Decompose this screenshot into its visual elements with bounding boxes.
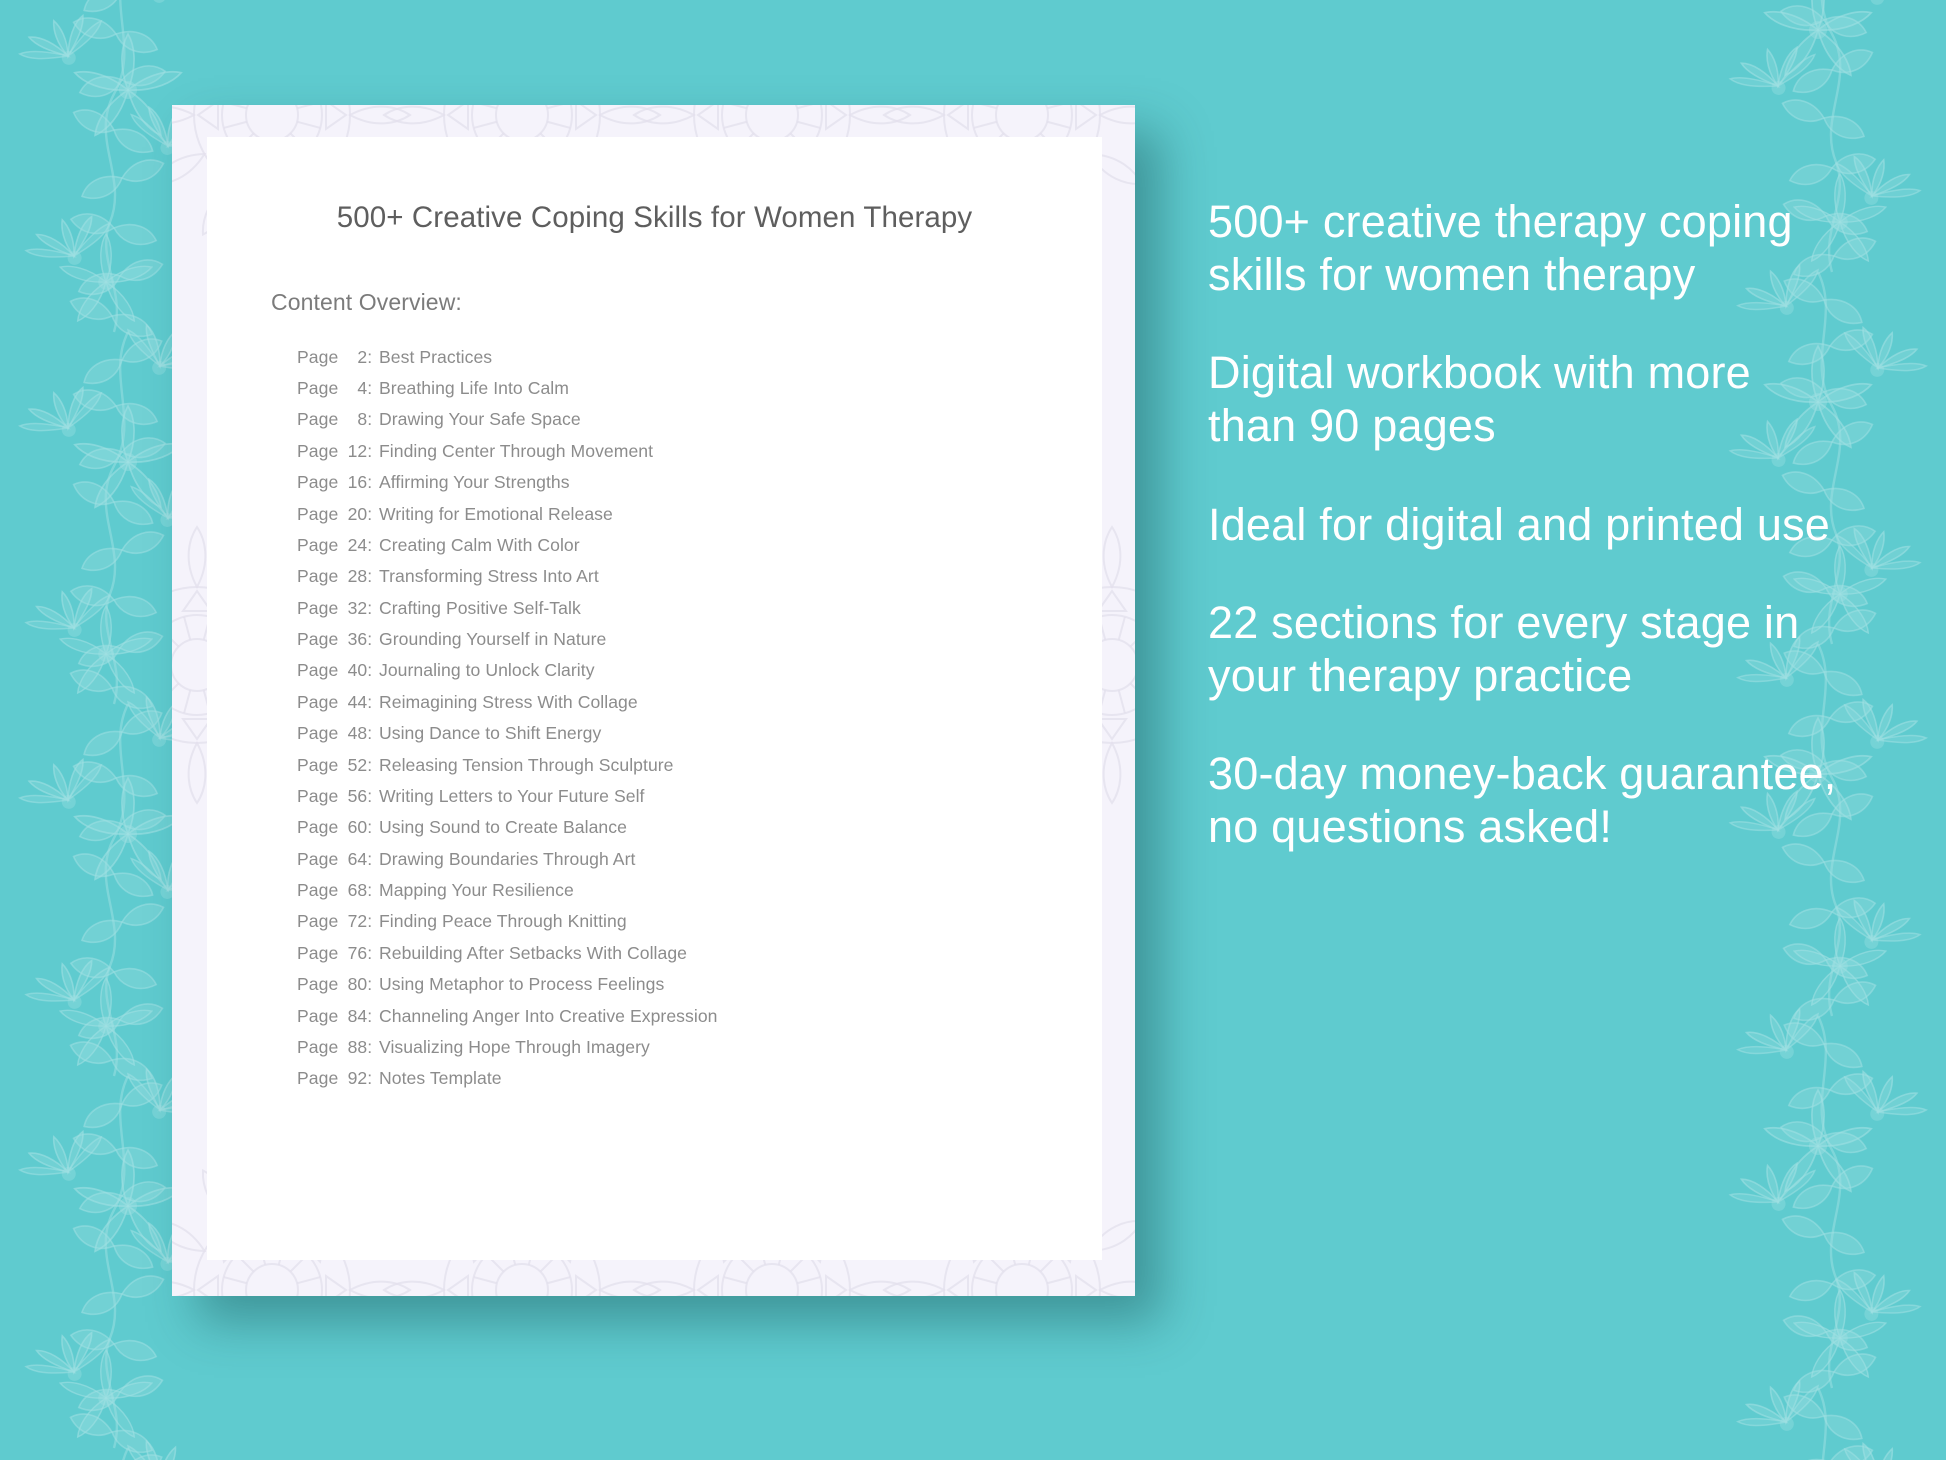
toc-entry-page-number: 60 <box>343 819 367 837</box>
content-overview-label: Content Overview: <box>207 237 1102 316</box>
toc-entry-page: Page 88: <box>297 1039 369 1057</box>
toc-entry-page-number: 4 <box>343 380 367 398</box>
toc-entry-title: Using Metaphor to Process Feelings <box>369 976 1102 994</box>
toc-entry-page-number: 20 <box>343 506 367 524</box>
toc-entry-page-word: Page <box>297 943 338 963</box>
toc-entry-page: Page 36: <box>297 631 369 649</box>
toc-entry-page: Page 8: <box>297 411 369 429</box>
toc-entry: Page 44:Reimagining Stress With Collage <box>297 687 1102 718</box>
toc-entry-page-number: 52 <box>343 757 367 775</box>
toc-entry-page-word: Page <box>297 629 338 649</box>
toc-entry-title: Mapping Your Resilience <box>369 882 1102 900</box>
toc-entry-title: Writing Letters to Your Future Self <box>369 788 1102 806</box>
toc-entry: Page 68:Mapping Your Resilience <box>297 875 1102 906</box>
toc-entry: Page 56:Writing Letters to Your Future S… <box>297 781 1102 812</box>
toc-entry-page-number: 84 <box>343 1008 367 1026</box>
toc-entry-title: Visualizing Hope Through Imagery <box>369 1039 1102 1057</box>
toc-entry: Page 64:Drawing Boundaries Through Art <box>297 844 1102 875</box>
toc-entry-page-word: Page <box>297 598 338 618</box>
toc-entry-page: Page 24: <box>297 537 369 555</box>
toc-entry-page-number: 12 <box>343 443 367 461</box>
marketing-bullet: Digital workbook with more than 90 pages <box>1208 347 1848 452</box>
toc-entry-page-word: Page <box>297 755 338 775</box>
toc-entry-page: Page 68: <box>297 882 369 900</box>
toc-entry-title: Writing for Emotional Release <box>369 506 1102 524</box>
toc-entry-page-number: 40 <box>343 662 367 680</box>
toc-entry: Page 84:Channeling Anger Into Creative E… <box>297 1001 1102 1032</box>
toc-entry-title: Rebuilding After Setbacks With Collage <box>369 945 1102 963</box>
toc-entry: Page 76:Rebuilding After Setbacks With C… <box>297 938 1102 969</box>
toc-entry-page: Page 16: <box>297 474 369 492</box>
toc-entry-page-number: 48 <box>343 725 367 743</box>
toc-entry-page-word: Page <box>297 1068 338 1088</box>
toc-entry-title: Best Practices <box>369 349 1102 367</box>
page-title: 500+ Creative Coping Skills for Women Th… <box>207 137 1102 237</box>
toc-entry: Page 60:Using Sound to Create Balance <box>297 812 1102 843</box>
toc-entry-page-word: Page <box>297 504 338 524</box>
toc-entry-title: Releasing Tension Through Sculpture <box>369 757 1102 775</box>
workbook-page-sheet: 500+ Creative Coping Skills for Women Th… <box>207 137 1102 1260</box>
toc-entry-page: Page 80: <box>297 976 369 994</box>
toc-entry-page-word: Page <box>297 472 338 492</box>
toc-entry-page-number: 44 <box>343 694 367 712</box>
toc-entry: Page 88:Visualizing Hope Through Imagery <box>297 1032 1102 1063</box>
toc-entry-page-number: 68 <box>343 882 367 900</box>
toc-entry: Page 40:Journaling to Unlock Clarity <box>297 656 1102 687</box>
toc-entry-title: Drawing Boundaries Through Art <box>369 851 1102 869</box>
toc-entry-title: Affirming Your Strengths <box>369 474 1102 492</box>
toc-entry: Page 12:Finding Center Through Movement <box>297 436 1102 467</box>
toc-entry: Page 28:Transforming Stress Into Art <box>297 561 1102 592</box>
toc-entry: Page 92:Notes Template <box>297 1063 1102 1094</box>
toc-entry-page-number: 28 <box>343 568 367 586</box>
toc-entry: Page 20:Writing for Emotional Release <box>297 499 1102 530</box>
marketing-bullet: 500+ creative therapy coping skills for … <box>1208 196 1848 301</box>
toc-entry-page-word: Page <box>297 786 338 806</box>
toc-entry-page-word: Page <box>297 409 338 429</box>
toc-entry: Page 80:Using Metaphor to Process Feelin… <box>297 969 1102 1000</box>
toc-entry-title: Crafting Positive Self-Talk <box>369 600 1102 618</box>
toc-entry: Page 2:Best Practices <box>297 342 1102 373</box>
toc-entry-page-word: Page <box>297 1006 338 1026</box>
toc-entry-page-number: 92 <box>343 1070 367 1088</box>
toc-entry-title: Notes Template <box>369 1070 1102 1088</box>
toc-entry-page-number: 36 <box>343 631 367 649</box>
toc-entry-title: Finding Center Through Movement <box>369 443 1102 461</box>
toc-entry-page: Page 32: <box>297 600 369 618</box>
toc-entry-title: Finding Peace Through Knitting <box>369 913 1102 931</box>
toc-entry-page-number: 24 <box>343 537 367 555</box>
toc-entry-page: Page 64: <box>297 851 369 869</box>
toc-entry-title: Journaling to Unlock Clarity <box>369 662 1102 680</box>
marketing-bullet: 22 sections for every stage in your ther… <box>1208 597 1848 702</box>
toc-entry-page: Page 60: <box>297 819 369 837</box>
toc-entry: Page 16:Affirming Your Strengths <box>297 467 1102 498</box>
table-of-contents: Page 2:Best PracticesPage 4:Breathing Li… <box>207 316 1102 1095</box>
toc-entry-page: Page 76: <box>297 945 369 963</box>
toc-entry: Page 24:Creating Calm With Color <box>297 530 1102 561</box>
toc-entry-page: Page 12: <box>297 443 369 461</box>
toc-entry-page-word: Page <box>297 974 338 994</box>
toc-entry: Page 72:Finding Peace Through Knitting <box>297 907 1102 938</box>
toc-entry-page-number: 8 <box>343 411 367 429</box>
toc-entry-page-word: Page <box>297 692 338 712</box>
toc-entry: Page 8:Drawing Your Safe Space <box>297 405 1102 436</box>
toc-entry-page: Page 20: <box>297 506 369 524</box>
marketing-bullet: Ideal for digital and printed use <box>1208 499 1848 552</box>
toc-entry-page-number: 80 <box>343 976 367 994</box>
toc-entry-page-number: 76 <box>343 945 367 963</box>
toc-entry-page-word: Page <box>297 911 338 931</box>
toc-entry-page-word: Page <box>297 441 338 461</box>
toc-entry-page-word: Page <box>297 566 338 586</box>
marketing-bullet: 30-day money-back guarantee, no question… <box>1208 748 1848 853</box>
toc-entry-title: Creating Calm With Color <box>369 537 1102 555</box>
workbook-preview-card: 500+ Creative Coping Skills for Women Th… <box>172 105 1135 1296</box>
toc-entry-title: Grounding Yourself in Nature <box>369 631 1102 649</box>
toc-entry-title: Transforming Stress Into Art <box>369 568 1102 586</box>
toc-entry-title: Using Dance to Shift Energy <box>369 725 1102 743</box>
toc-entry-page-number: 16 <box>343 474 367 492</box>
promo-graphic: 500+ Creative Coping Skills for Women Th… <box>0 0 1946 1460</box>
toc-entry-page: Page 84: <box>297 1008 369 1026</box>
toc-entry-page-word: Page <box>297 880 338 900</box>
toc-entry-title: Channeling Anger Into Creative Expressio… <box>369 1008 1102 1026</box>
toc-entry-page-number: 2 <box>343 349 367 367</box>
toc-entry-page: Page 28: <box>297 568 369 586</box>
toc-entry: Page 36:Grounding Yourself in Nature <box>297 624 1102 655</box>
toc-entry-page: Page 52: <box>297 757 369 775</box>
toc-entry-page-word: Page <box>297 817 338 837</box>
toc-entry-page-word: Page <box>297 849 338 869</box>
toc-entry-page-word: Page <box>297 1037 338 1057</box>
toc-entry-page-word: Page <box>297 723 338 743</box>
toc-entry-page-number: 32 <box>343 600 367 618</box>
toc-entry-page: Page 72: <box>297 913 369 931</box>
toc-entry-page-number: 64 <box>343 851 367 869</box>
marketing-bullets: 500+ creative therapy coping skills for … <box>1208 196 1848 854</box>
toc-entry: Page 32:Crafting Positive Self-Talk <box>297 593 1102 624</box>
toc-entry-title: Using Sound to Create Balance <box>369 819 1102 837</box>
toc-entry-page-word: Page <box>297 347 338 367</box>
toc-entry-page: Page 4: <box>297 380 369 398</box>
toc-entry-page-word: Page <box>297 660 338 680</box>
toc-entry-page: Page 48: <box>297 725 369 743</box>
toc-entry-page: Page 44: <box>297 694 369 712</box>
toc-entry: Page 4:Breathing Life Into Calm <box>297 373 1102 404</box>
toc-entry-page-number: 56 <box>343 788 367 806</box>
toc-entry-page-number: 72 <box>343 913 367 931</box>
toc-entry-title: Breathing Life Into Calm <box>369 380 1102 398</box>
toc-entry-title: Reimagining Stress With Collage <box>369 694 1102 712</box>
toc-entry-page-word: Page <box>297 535 338 555</box>
toc-entry-page-number: 88 <box>343 1039 367 1057</box>
toc-entry-page: Page 92: <box>297 1070 369 1088</box>
toc-entry: Page 52:Releasing Tension Through Sculpt… <box>297 750 1102 781</box>
toc-entry: Page 48:Using Dance to Shift Energy <box>297 718 1102 749</box>
toc-entry-page-word: Page <box>297 378 338 398</box>
toc-entry-title: Drawing Your Safe Space <box>369 411 1102 429</box>
toc-entry-page: Page 2: <box>297 349 369 367</box>
toc-entry-page: Page 56: <box>297 788 369 806</box>
toc-entry-page: Page 40: <box>297 662 369 680</box>
